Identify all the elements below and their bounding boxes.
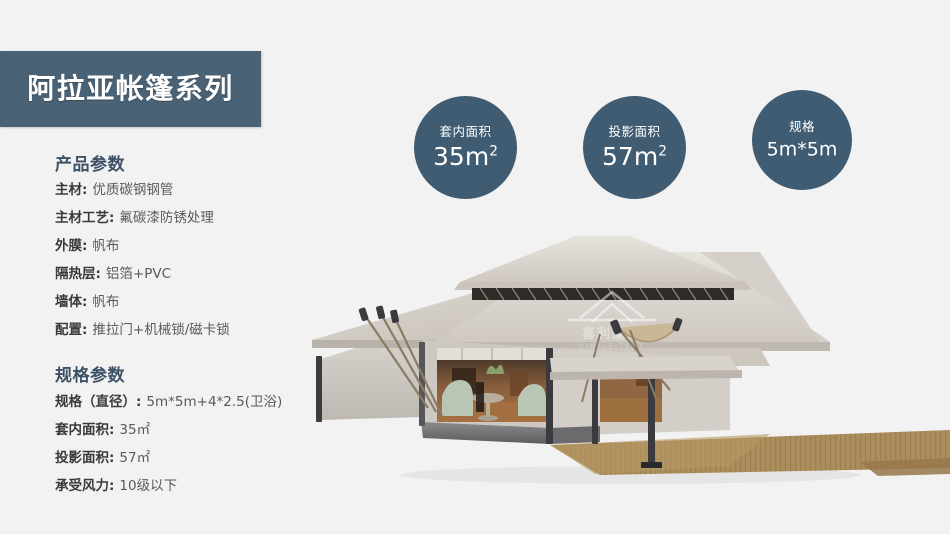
spec-label: 主材工艺: — [55, 212, 114, 226]
stat-label: 投影面积 — [608, 126, 660, 139]
stat-value: 35m2 — [433, 144, 498, 169]
spec-value: 优质碳钢钢管 — [92, 184, 173, 198]
stat-value: 57m2 — [602, 144, 667, 169]
interior-figure — [476, 382, 484, 412]
stat-value: 5m*5m — [767, 140, 838, 159]
spec-label: 套内面积: — [55, 424, 114, 438]
tent-villa-illustration: 喜利篷房 SIMPLE TENT — [300, 230, 950, 505]
spec-label: 墙体: — [55, 296, 87, 310]
section-heading-product-params: 产品参数 — [55, 155, 355, 175]
spec-label: 主材: — [55, 184, 87, 198]
left-post — [316, 356, 322, 422]
post-base-right — [641, 462, 662, 468]
spec-value: 57㎡ — [119, 452, 150, 466]
spec-label: 配置: — [55, 324, 87, 338]
spec-value: 5m*5m+4*2.5(卫浴) — [146, 396, 282, 410]
spec-value: 35㎡ — [119, 424, 150, 438]
spec-label: 规格（直径）: — [55, 396, 141, 410]
tent-render-svg: 喜利篷房 SIMPLE TENT — [300, 230, 950, 505]
stat-label: 规格 — [789, 121, 815, 134]
spec-label: 投影面积: — [55, 452, 114, 466]
spec-value: 帆布 — [92, 240, 119, 254]
page-title: 阿拉亚帐篷系列 — [27, 75, 234, 103]
product-spec-page: 阿拉亚帐篷系列 产品参数 主材: 优质碳钢钢管 主材工艺: 氟碳漆防锈处理 外膜… — [0, 0, 950, 534]
spec-value: 10级以下 — [119, 480, 177, 494]
spec-value: 推拉门+机械锁/磁卡锁 — [92, 324, 229, 338]
spec-label: 外膜: — [55, 240, 87, 254]
series-title-banner: 阿拉亚帐篷系列 — [0, 51, 261, 127]
interior-table-base — [478, 415, 498, 421]
spec-label: 承受风力: — [55, 480, 114, 494]
stat-label: 套内面积 — [439, 126, 491, 139]
spec-label: 隔热层: — [55, 268, 101, 282]
stat-circle-dimensions: 规格 5m*5m — [752, 90, 852, 190]
spec-value: 氟碳漆防锈处理 — [119, 212, 214, 226]
spec-value: 帆布 — [92, 296, 119, 310]
spec-value: 铝箔+PVC — [106, 268, 171, 282]
stat-circle-projected-area: 投影面积 57m2 — [583, 96, 686, 199]
stat-circle-interior-area: 套内面积 35m2 — [414, 96, 517, 199]
spec-row: 主材: 优质碳钢钢管 — [55, 184, 355, 212]
